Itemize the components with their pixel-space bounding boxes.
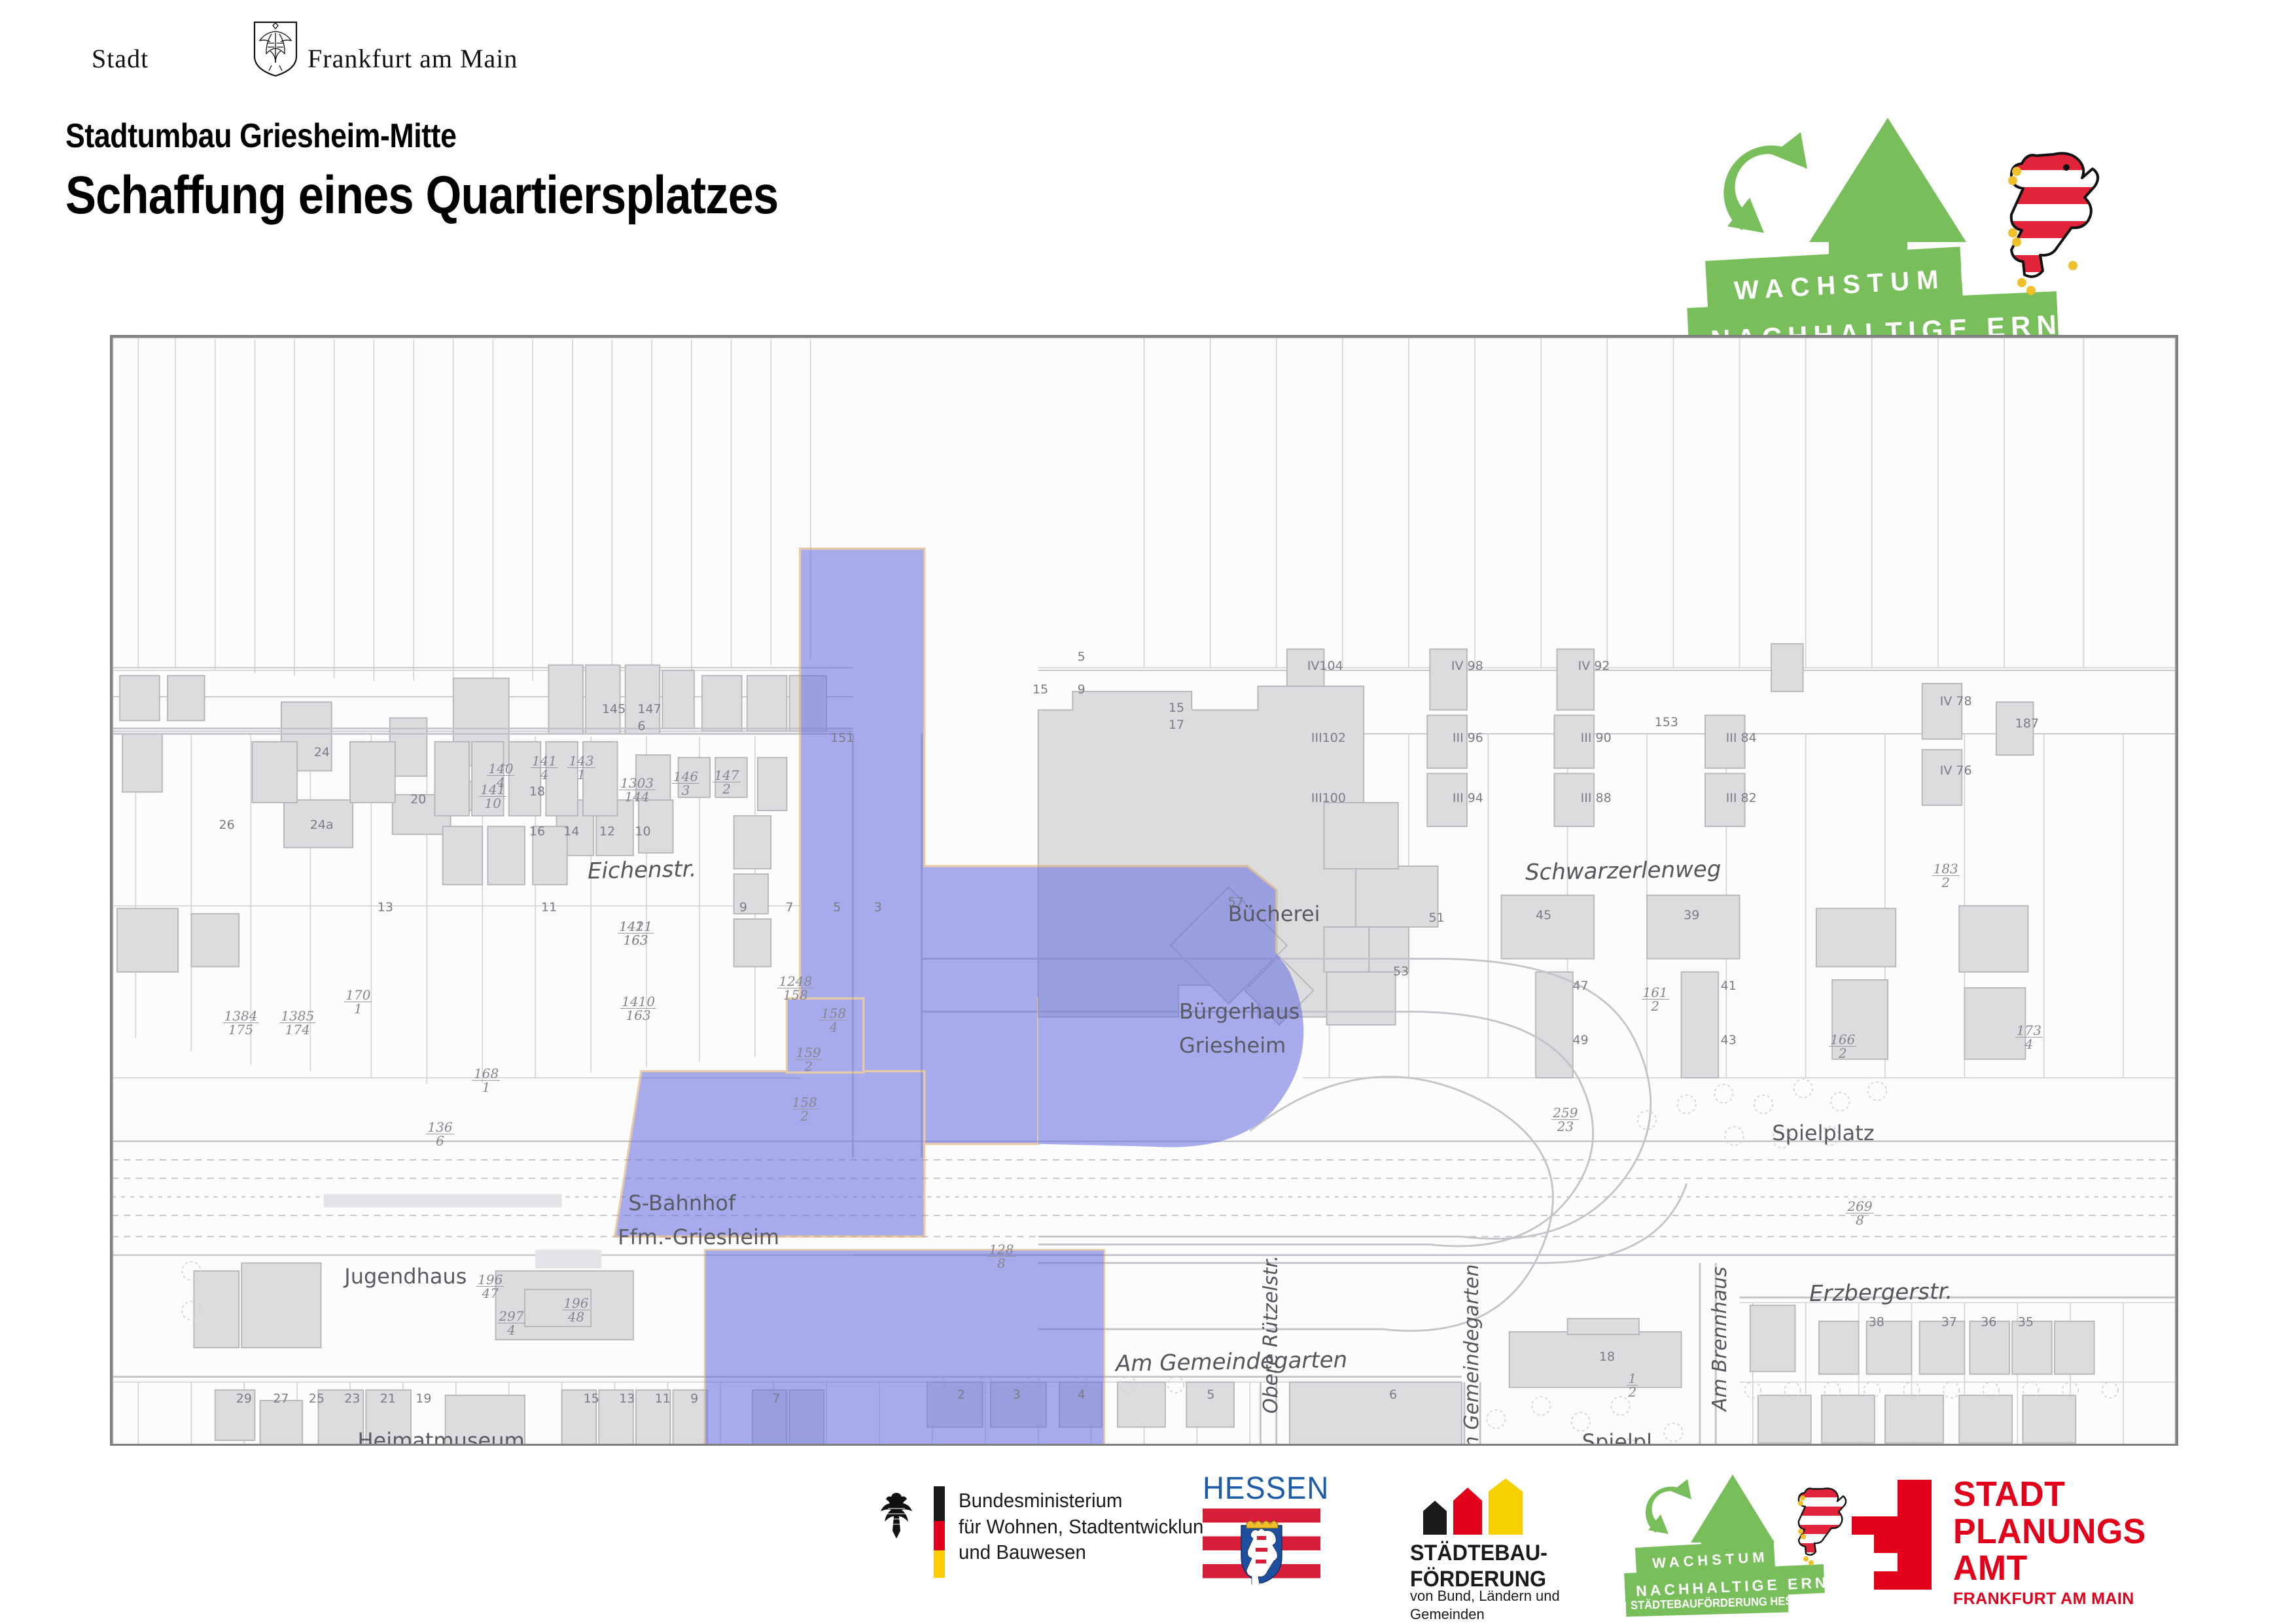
- three-houses-icon: [1417, 1478, 1541, 1535]
- parcel-number: 1701: [344, 988, 372, 1015]
- stadtplanungsamt-block-icon: [1852, 1480, 1932, 1590]
- map-canvas: [112, 337, 2176, 1446]
- green-tree-icon-small: [1691, 1475, 1775, 1543]
- stbf-line-4: Gemeinden: [1410, 1605, 1560, 1623]
- page-title: Schaffung eines Quartiersplatzes: [65, 165, 778, 226]
- hessen-lion-icon-small: [1781, 1482, 1854, 1571]
- parcel-number: 1584: [820, 1007, 847, 1034]
- parcel-number: 1431: [567, 754, 595, 781]
- title-block: Stadtumbau Griesheim-Mitte Schaffung ein…: [65, 116, 894, 226]
- parcel-number: 2974: [497, 1310, 525, 1336]
- parcel-number: 1248158: [777, 975, 813, 1002]
- parcel-number: 1410163: [620, 995, 656, 1022]
- spa-line-2: PLANUNGS: [1953, 1513, 2146, 1550]
- city-logo-word-left: Stadt: [92, 43, 149, 74]
- bmwsb-line-1: Bundesministerium: [959, 1488, 1214, 1514]
- parcel-number: 1288: [987, 1243, 1015, 1270]
- parcel-number: 1592: [795, 1046, 822, 1073]
- parcel-number: 1414: [531, 754, 558, 781]
- green-tree-icon: [1809, 118, 1966, 242]
- hessen-logo: HESSEN: [1203, 1471, 1335, 1507]
- parcel-number: 19647: [476, 1273, 504, 1300]
- stbf-line-1: STÄDTEBAU-: [1410, 1540, 1547, 1566]
- parcel-number: 1411163: [618, 920, 654, 947]
- spa-line-1: STADT: [1953, 1476, 2146, 1513]
- hessen-wordmark: HESSEN: [1203, 1471, 1329, 1507]
- parcel-number: 1582: [791, 1096, 819, 1123]
- bmwsb-line-3: und Bauwesen: [959, 1539, 1214, 1565]
- german-flag-bar-icon: [934, 1486, 945, 1578]
- parcel-number: 19648: [562, 1297, 590, 1323]
- parcel-number: 1472: [713, 769, 740, 795]
- page-subtitle: Stadtumbau Griesheim-Mitte: [65, 116, 778, 156]
- spa-subline: FRANKFURT AM MAIN: [1953, 1590, 2134, 1609]
- staedtebaufoerderung-subtitle: von Bund, Ländern und Gemeinden: [1410, 1587, 1560, 1623]
- parcel-number: 1734: [2015, 1024, 2043, 1051]
- parcel-number: 1404: [487, 762, 514, 789]
- bmwsb-line-2: für Wohnen, Stadtentwicklung: [959, 1514, 1214, 1540]
- city-logo: Stadt Frankfurt am Main: [92, 31, 510, 77]
- stadtplanungsamt-wordmark: STADT PLANUNGS AMT: [1953, 1476, 2146, 1587]
- frankfurt-eagle-crest-icon: [252, 20, 299, 77]
- bundesadler-icon: [874, 1490, 919, 1543]
- recycle-arrow-icon-small: [1634, 1477, 1695, 1537]
- bmwsb-text: Bundesministerium für Wohnen, Stadtentwi…: [959, 1488, 1214, 1565]
- parcel-number: 1662: [1829, 1033, 1856, 1060]
- parcel-number: 1366: [426, 1121, 453, 1147]
- parcel-number: 12: [1627, 1372, 1638, 1399]
- footer-logo-row: Bundesministerium für Wohnen, Stadtentwi…: [0, 1471, 2296, 1601]
- spa-line-3: AMT: [1953, 1550, 2146, 1587]
- staedtebaufoerderung-title: STÄDTEBAU- FÖRDERUNG: [1410, 1540, 1547, 1592]
- parcel-number: 25923: [1551, 1106, 1579, 1133]
- parcel-number: 1463: [672, 770, 699, 797]
- parcel-number: 1681: [472, 1067, 500, 1094]
- parcel-number: 2698: [1846, 1200, 1873, 1227]
- parcel-number: 1832: [1932, 862, 1960, 889]
- recycle-arrow-icon: [1703, 128, 1814, 239]
- city-logo-word-right: Frankfurt am Main: [308, 43, 518, 74]
- parcel-number: 1303144: [619, 777, 655, 803]
- stbf-line-3: von Bund, Ländern und: [1410, 1587, 1560, 1605]
- parcel-number: 1612: [1642, 986, 1669, 1013]
- hessen-lion-icon: [1976, 143, 2113, 306]
- hessen-coat-of-arms-icon: [1239, 1514, 1284, 1584]
- parcel-number: 1384175: [223, 1009, 259, 1036]
- site-map[interactable]: Eichenstr.SchwarzerlenwegErzbergerstr.Am…: [110, 335, 2178, 1446]
- parcel-number: 1385174: [279, 1009, 315, 1036]
